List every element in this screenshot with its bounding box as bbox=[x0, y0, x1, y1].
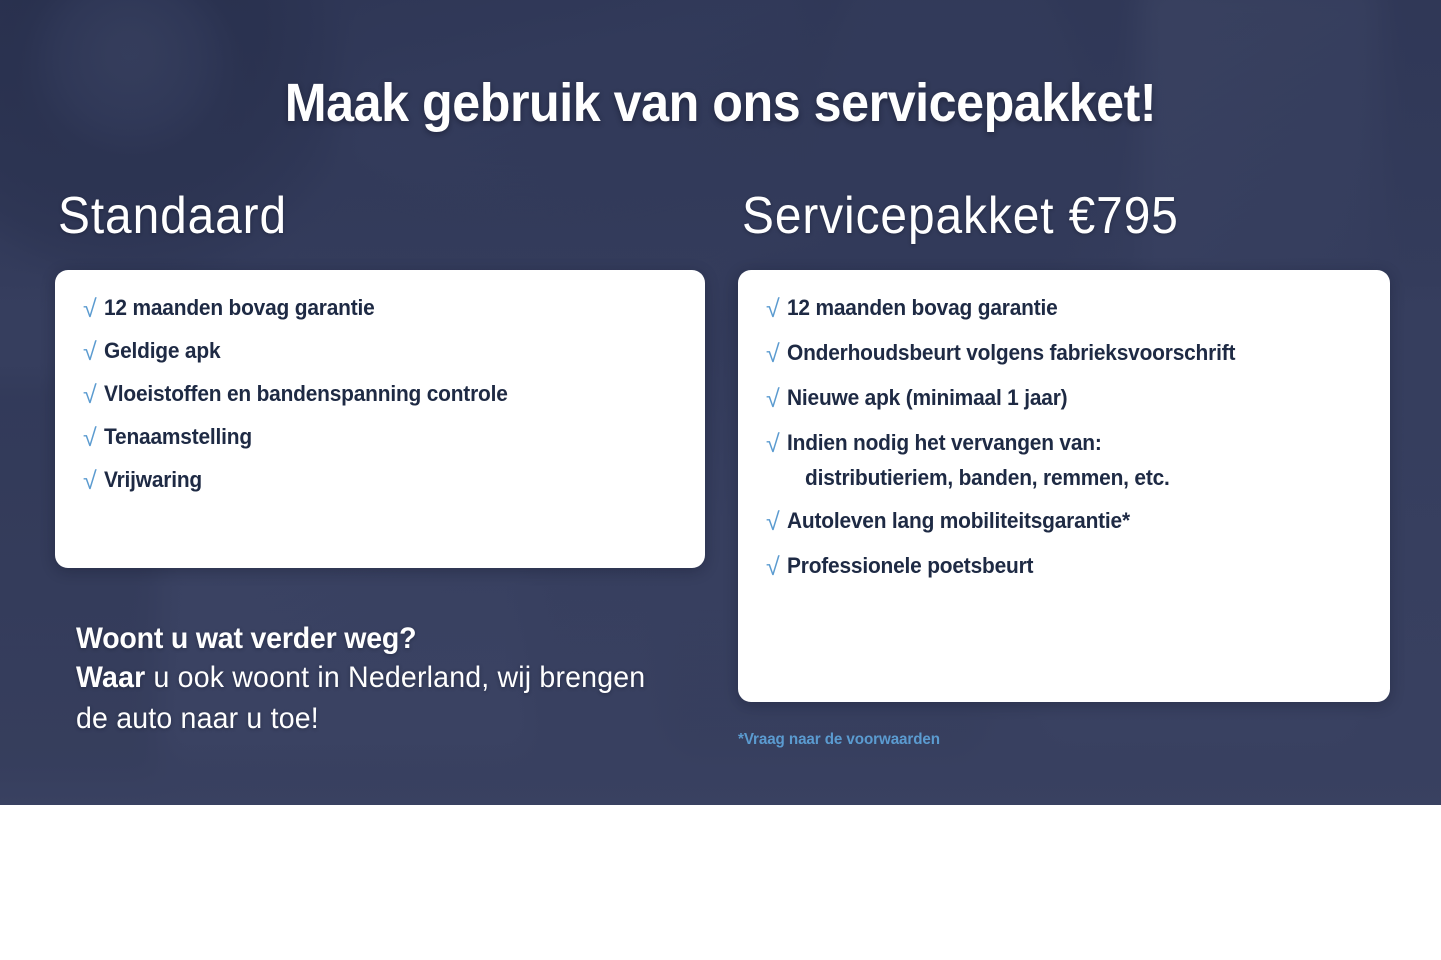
check-mark-icon: √ bbox=[766, 342, 780, 367]
check-mark-icon: √ bbox=[83, 340, 97, 365]
list-item: √ Nieuwe apk (minimaal 1 jaar) bbox=[766, 386, 1362, 412]
feature-label: 12 maanden bovag garantie bbox=[787, 296, 1058, 320]
feature-label: Professionele poetsbeurt bbox=[787, 554, 1033, 578]
feature-label: Indien nodig het vervangen van: bbox=[787, 430, 1102, 455]
feature-label: Vloeistoffen en bandenspanning controle bbox=[104, 382, 508, 406]
check-mark-icon: √ bbox=[83, 383, 97, 408]
list-item: √ Onderhoudsbeurt volgens fabrieksvoorsc… bbox=[766, 341, 1362, 367]
promo-body-bold: Waar bbox=[76, 661, 145, 694]
list-item: √ Indien nodig het vervangen van: distri… bbox=[766, 431, 1362, 490]
check-mark-icon: √ bbox=[766, 432, 780, 457]
check-mark-icon: √ bbox=[766, 510, 780, 535]
feature-label: Geldige apk bbox=[104, 339, 220, 363]
list-item: √ Autoleven lang mobiliteitsgarantie* bbox=[766, 509, 1362, 535]
check-mark-icon: √ bbox=[766, 555, 780, 580]
list-item: √ Tenaamstelling bbox=[83, 425, 677, 451]
feature-label: Nieuwe apk (minimaal 1 jaar) bbox=[787, 386, 1067, 410]
column-title-servicepakket: Servicepakket €795 bbox=[742, 186, 1179, 246]
page-title: Maak gebruik van ons servicepakket! bbox=[50, 72, 1390, 134]
promo-heading: Woont u wat verder weg? bbox=[76, 620, 665, 658]
feature-label: Onderhoudsbeurt volgens fabrieksvoorschr… bbox=[787, 341, 1235, 365]
list-item: √ Vloeistoffen en bandenspanning control… bbox=[83, 382, 677, 408]
conditions-footnote: *Vraag naar de voorwaarden bbox=[738, 731, 940, 749]
feature-label: Vrijwaring bbox=[104, 468, 202, 492]
feature-label-wrapper: Indien nodig het vervangen van: distribu… bbox=[787, 431, 1170, 490]
feature-label: Tenaamstelling bbox=[104, 425, 252, 449]
check-mark-icon: √ bbox=[83, 426, 97, 451]
feature-label: Autoleven lang mobiliteitsgarantie* bbox=[787, 509, 1130, 533]
service-package-poster: Maak gebruik van ons servicepakket! Stan… bbox=[0, 0, 1441, 960]
list-item: √ Vrijwaring bbox=[83, 468, 677, 494]
list-item: √ 12 maanden bovag garantie bbox=[83, 296, 677, 322]
check-mark-icon: √ bbox=[766, 297, 780, 322]
column-title-standaard: Standaard bbox=[58, 186, 287, 246]
servicepakket-package-card: √ 12 maanden bovag garantie √ Onderhouds… bbox=[738, 270, 1390, 702]
feature-label: 12 maanden bovag garantie bbox=[104, 296, 375, 320]
delivery-promo-text: Woont u wat verder weg? Waar u ook woont… bbox=[76, 620, 665, 739]
promo-body-rest: u ook woont in Nederland, wij brengen de… bbox=[76, 661, 645, 735]
check-mark-icon: √ bbox=[83, 297, 97, 322]
promo-body: Waar u ook woont in Nederland, wij breng… bbox=[76, 658, 665, 739]
list-item: √ 12 maanden bovag garantie bbox=[766, 296, 1362, 322]
list-item: √ Professionele poetsbeurt bbox=[766, 554, 1362, 580]
footer-bar: Meer informatie: wijnne.nl AUTOBEDRIJF W… bbox=[0, 805, 1441, 960]
standaard-package-card: √ 12 maanden bovag garantie √ Geldige ap… bbox=[55, 270, 705, 568]
feature-sublabel: distributieriem, banden, remmen, etc. bbox=[805, 466, 1170, 490]
check-mark-icon: √ bbox=[83, 469, 97, 494]
check-mark-icon: √ bbox=[766, 387, 780, 412]
list-item: √ Geldige apk bbox=[83, 339, 677, 365]
